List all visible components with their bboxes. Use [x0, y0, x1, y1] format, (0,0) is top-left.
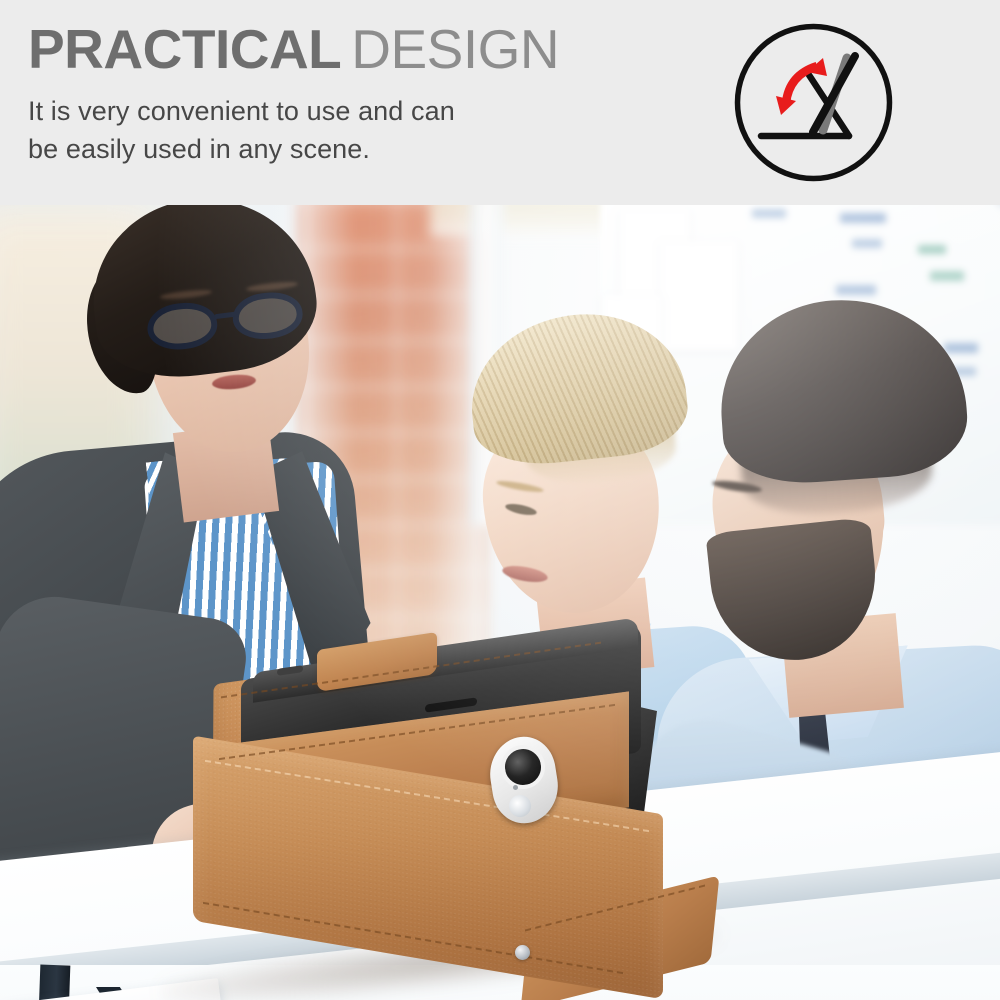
product-lifestyle-photo — [0, 205, 1000, 1000]
whiteboard-ink — [752, 209, 786, 218]
camera-microphone — [513, 785, 518, 790]
leather-wallet-phone-case — [195, 645, 715, 975]
glasses-lens-left — [145, 299, 220, 353]
headline-light-word: DESIGN — [351, 18, 559, 80]
subtitle-line-1: It is very convenient to use and can — [28, 92, 688, 130]
subtitle-line-2: be easily used in any scene. — [28, 130, 688, 168]
header-text-block: PRACTICALDESIGN It is very convenient to… — [28, 18, 688, 168]
badge-circle-outline — [738, 27, 890, 179]
kickstand-adjustable-angle-icon — [731, 20, 896, 185]
product-feature-banner: PRACTICALDESIGN It is very convenient to… — [0, 0, 1000, 1000]
header-band: PRACTICALDESIGN It is very convenient to… — [0, 0, 1000, 205]
bearded-man-hair — [714, 292, 971, 489]
case-magnetic-stud — [515, 945, 530, 960]
headline-strong-word: PRACTICAL — [28, 18, 341, 80]
page-title: PRACTICALDESIGN — [28, 18, 688, 80]
page-subtitle: It is very convenient to use and can be … — [28, 92, 688, 168]
arrow-head-down — [776, 96, 796, 115]
glasses-lens-right — [230, 289, 305, 343]
